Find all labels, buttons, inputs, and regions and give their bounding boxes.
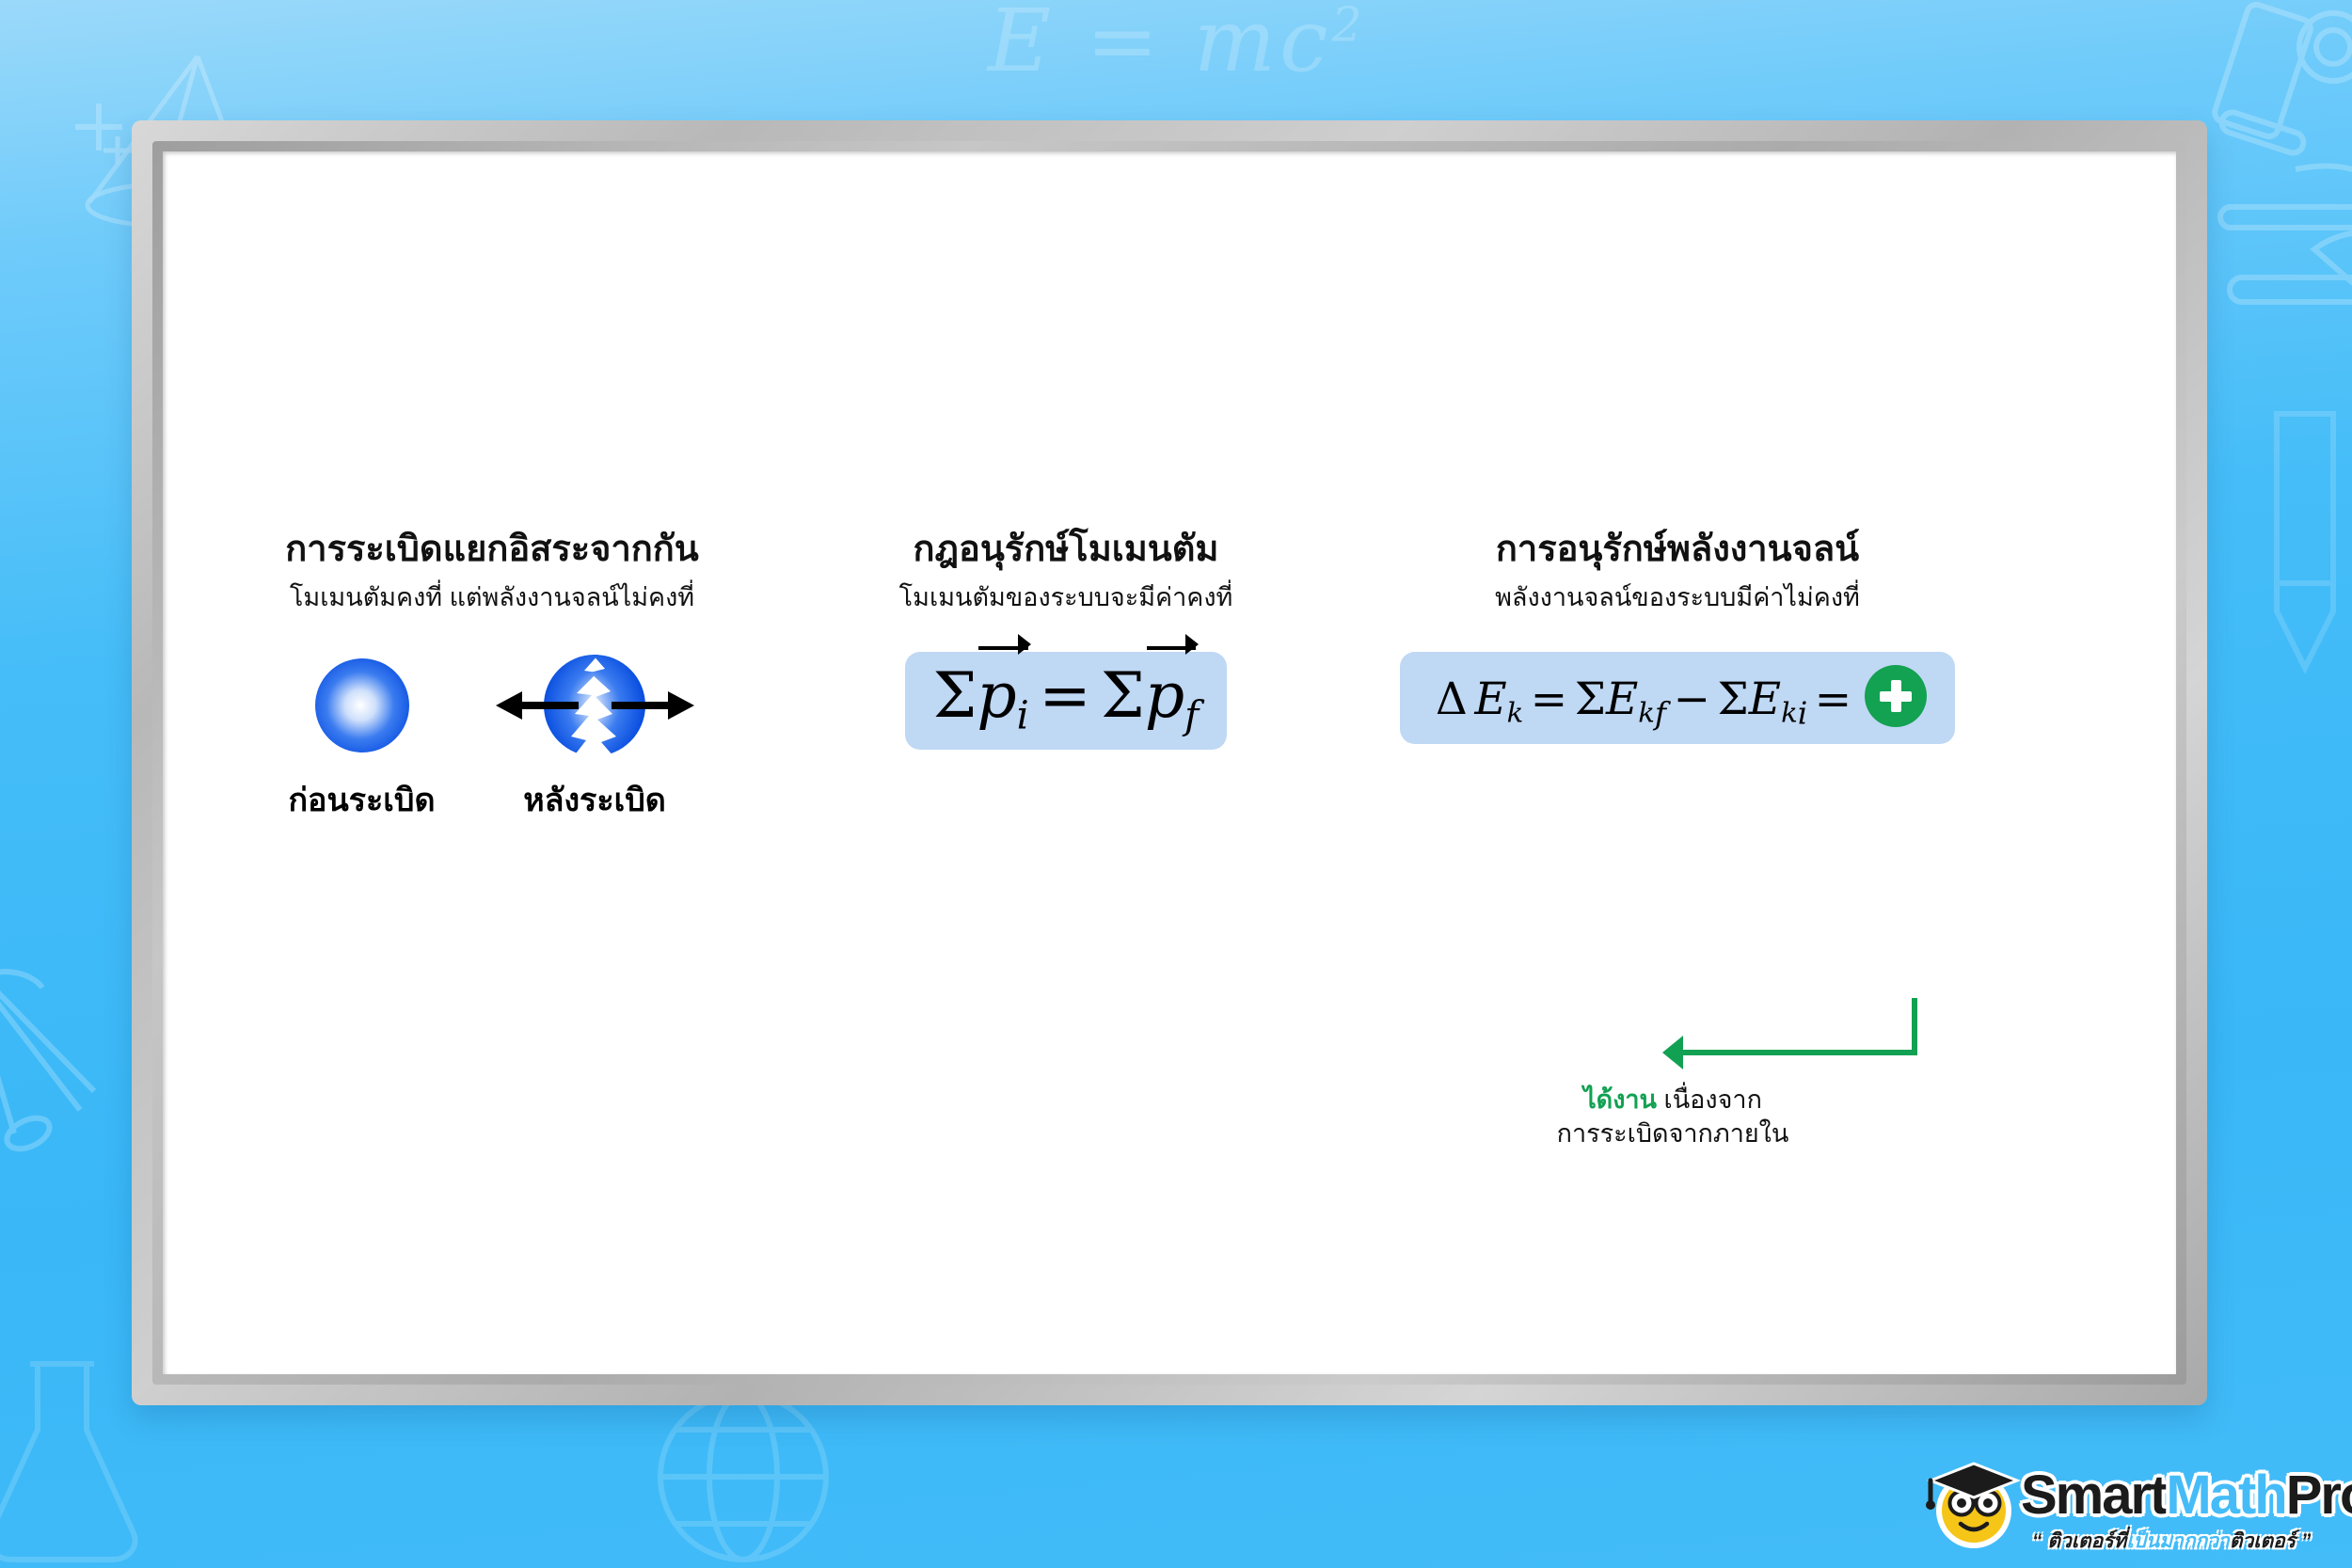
E-2-subscript: k — [1638, 696, 1655, 728]
equals-left: = — [1523, 673, 1574, 725]
vector-arrow-icon — [978, 646, 1027, 651]
p-initial: p — [977, 659, 1016, 732]
diagram-after-label: หลังระเบิด — [494, 774, 696, 825]
column-energy: การอนุรักษ์พลังงานจลน์ พลังงานจลน์ของระบ… — [1339, 528, 2016, 744]
E-1-subscript: k — [1507, 696, 1524, 728]
delta-symbol: Δ — [1428, 673, 1474, 725]
slide-root: E = mc2 — [0, 0, 2352, 1568]
column-energy-subtitle: พลังงานจลน์ของระบบมีค่าไม่คงที่ — [1339, 581, 2016, 614]
annotation-note: ได้งาน เนื่องจาก การระเบิดจากภายใน — [1518, 1083, 1828, 1151]
annotation-rest: เนื่องจาก — [1657, 1085, 1762, 1114]
equals-1: = — [1029, 659, 1101, 732]
column-explosion-title: การระเบิดแยกอิสระจากกัน — [200, 528, 784, 573]
minus-symbol: − — [1666, 673, 1717, 725]
emc2-exponent: 2 — [1332, 0, 1366, 52]
sigma-3: Σ — [1575, 673, 1606, 725]
tripod-doodle — [0, 931, 151, 1383]
tagline-close: ติวเตอร์ ” — [2230, 1530, 2311, 1552]
diagram-before: ก่อนระเบิด — [288, 654, 435, 825]
momentum-formula: Σpi=Σpf — [933, 659, 1199, 732]
logo-math: Math — [2166, 1465, 2285, 1526]
p-final: p — [1145, 659, 1184, 732]
logo-pro: Pro — [2286, 1465, 2352, 1526]
split-sphere-icon — [494, 654, 696, 757]
column-momentum-title: กฎอนุรักษ์โมเมนตัม — [803, 528, 1329, 573]
sphere-icon — [313, 657, 411, 754]
sigma-4: Σ — [1718, 673, 1749, 725]
diagram-before-label: ก่อนระเบิด — [288, 774, 435, 825]
p-initial-vector: p — [977, 665, 1016, 727]
logo: SmartMathPro “ ติวเตอร์ที่เป็นมากกว่าติว… — [1919, 1456, 2333, 1560]
E-3-subsubscript: i — [1798, 694, 1808, 731]
vector-arrow-icon-2 — [1147, 646, 1196, 651]
E-2-subsubscript: f — [1655, 694, 1666, 731]
plus-badge-icon — [1865, 665, 1927, 727]
E-2: E — [1606, 673, 1638, 725]
tagline-open: “ ติวเตอร์ที่ — [2032, 1530, 2126, 1552]
graduate-face-icon — [1919, 1456, 2032, 1550]
explosion-diagram: ก่อนระเบิด — [200, 654, 784, 825]
E-3: E — [1749, 673, 1781, 725]
emc2-doodle: E = mc2 — [988, 0, 1366, 91]
equals-right: = — [1807, 673, 1858, 725]
column-energy-title: การอนุรักษ์พลังงานจลน์ — [1339, 528, 2016, 573]
pencil-doodle — [2249, 395, 2352, 696]
diagram-after: หลังระเบิด — [494, 654, 696, 825]
logo-text: SmartMathPro — [2021, 1464, 2352, 1527]
emc2-text: E = mc — [988, 0, 1332, 91]
sigma-1: Σ — [933, 659, 977, 732]
annotation-highlight: ได้งาน — [1583, 1085, 1657, 1114]
E-1: E — [1474, 673, 1506, 725]
sphere-slot-before — [288, 654, 435, 757]
energy-formula-box: ΔEk=ΣEkf−ΣEki= — [1400, 652, 1954, 744]
logo-tagline: “ ติวเตอร์ที่เป็นมากกว่าติวเตอร์ ” — [2032, 1526, 2311, 1557]
energy-formula: ΔEk=ΣEkf−ΣEki= — [1428, 673, 1926, 725]
E-3-subscript: k — [1781, 696, 1798, 728]
sigma-2: Σ — [1101, 659, 1145, 732]
p-final-vector: p — [1145, 665, 1184, 727]
microscope-doodle — [2201, 0, 2352, 339]
plus-sign-doodle — [56, 85, 141, 169]
annotation-line-2: การระเบิดจากภายใน — [1518, 1117, 1828, 1150]
column-momentum: กฎอนุรักษ์โมเมนตัม โมเมนตัมของระบบจะมีค่… — [803, 528, 1329, 750]
whiteboard-frame-inner: การระเบิดแยกอิสระจากกัน โมเมนตัมคงที่ แต… — [152, 141, 2186, 1385]
column-explosion: การระเบิดแยกอิสระจากกัน โมเมนตัมคงที่ แต… — [200, 528, 784, 825]
sphere-slot-after — [494, 654, 696, 757]
whiteboard-surface: การระเบิดแยกอิสระจากกัน โมเมนตัมคงที่ แต… — [163, 151, 2176, 1374]
column-momentum-subtitle: โมเมนตัมของระบบจะมีค่าคงที่ — [803, 581, 1329, 614]
whiteboard-frame: การระเบิดแยกอิสระจากกัน โมเมนตัมคงที่ แต… — [132, 120, 2207, 1405]
globe-doodle — [602, 1392, 922, 1568]
column-explosion-subtitle: โมเมนตัมคงที่ แต่พลังงานจลน์ไม่คงที่ — [200, 581, 784, 614]
logo-smart: Smart — [2021, 1465, 2166, 1526]
annotation-line-1: ได้งาน เนื่องจาก — [1518, 1083, 1828, 1117]
p-initial-subscript: i — [1017, 692, 1029, 737]
p-final-subscript: f — [1184, 692, 1199, 737]
tagline-blue: เป็นมากกว่า — [2126, 1530, 2230, 1552]
momentum-formula-box: Σpi=Σpf — [905, 652, 1227, 750]
